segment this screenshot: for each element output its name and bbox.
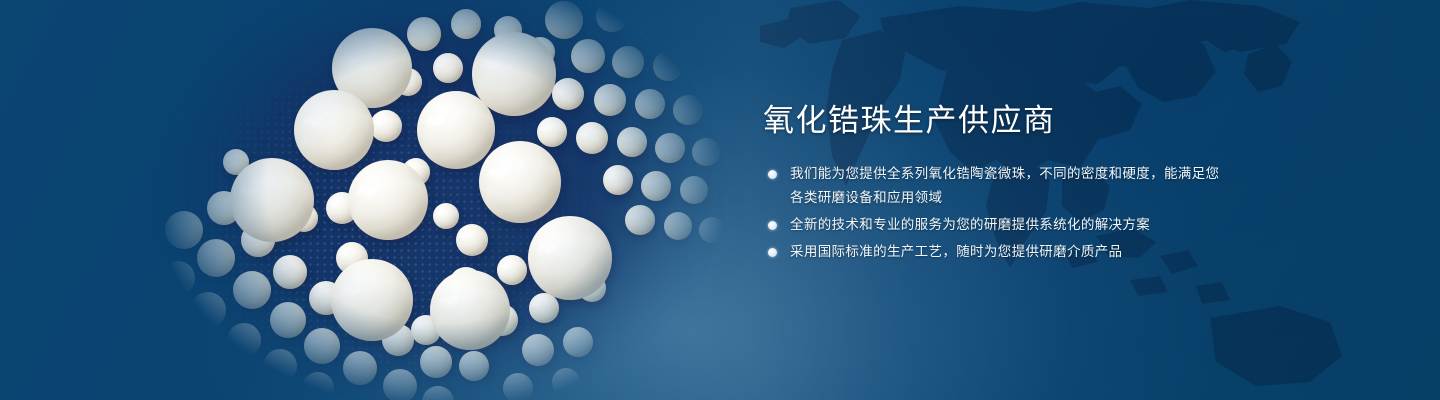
bullet-circle-icon — [768, 170, 777, 179]
hero-banner: 氧化锆珠生产供应商 我们能为您提供全系列氧化锆陶瓷微珠，不同的密度和硬度，能满足… — [0, 0, 1440, 400]
feature-list-item: 我们能为您提供全系列氧化锆陶瓷微珠，不同的密度和硬度，能满足您各类研磨设备和应用… — [763, 162, 1233, 210]
bullet-circle-icon — [768, 221, 777, 230]
banner-headline: 氧化锆珠生产供应商 — [763, 100, 1233, 142]
banner-content: 氧化锆珠生产供应商 我们能为您提供全系列氧化锆陶瓷微珠，不同的密度和硬度，能满足… — [763, 100, 1233, 264]
feature-text: 全新的技术和专业的服务为您的研磨提供系统化的解决方案 — [790, 217, 1150, 233]
bullet-circle-icon — [768, 248, 777, 257]
feature-text: 采用国际标准的生产工艺，随时为您提供研磨介质产品 — [790, 244, 1122, 260]
feature-list: 我们能为您提供全系列氧化锆陶瓷微珠，不同的密度和硬度，能满足您各类研磨设备和应用… — [763, 162, 1233, 264]
feature-text: 我们能为您提供全系列氧化锆陶瓷微珠，不同的密度和硬度，能满足您各类研磨设备和应用… — [790, 166, 1219, 206]
zirconia-beads-illustration — [120, 0, 740, 400]
feature-list-item: 全新的技术和专业的服务为您的研磨提供系统化的解决方案 — [763, 213, 1233, 237]
feature-list-item: 采用国际标准的生产工艺，随时为您提供研磨介质产品 — [763, 240, 1233, 264]
product-image — [120, 0, 740, 400]
